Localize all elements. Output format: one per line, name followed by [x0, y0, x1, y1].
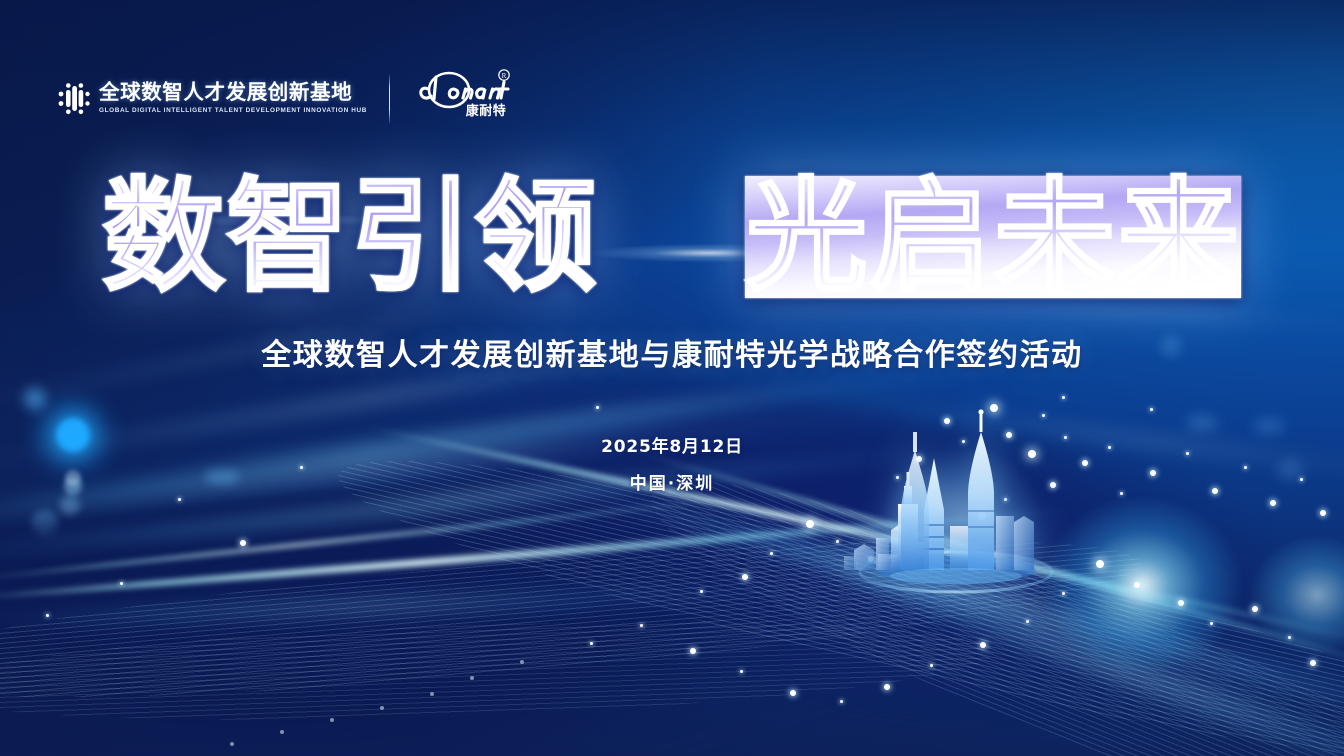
page-title: 数智引领 光启未来 — [0, 176, 1344, 298]
title-segment-2: 光启未来 — [745, 176, 1241, 298]
event-meta: 2025年8月12日 中国·深圳 — [0, 432, 1344, 494]
city-skyline-icon — [838, 398, 1076, 598]
hub-name-cn: 全球数智人才发展创新基地 — [99, 82, 367, 104]
conant-name-cn: 康耐特 — [466, 103, 507, 119]
page-subtitle: 全球数智人才发展创新基地与康耐特光学战略合作签约活动 — [0, 330, 1344, 374]
title-segment-2-text: 光启未来 — [745, 176, 1241, 298]
logo-conant[interactable]: R 康耐特 — [412, 68, 517, 130]
event-banner: 全球数智人才发展创新基地 GLOBAL DIGITAL INTELLIGENT … — [0, 0, 1344, 756]
svg-text:R: R — [502, 72, 507, 80]
hub-name-en: GLOBAL DIGITAL INTELLIGENT TALENT DEVELO… — [99, 106, 367, 116]
logo-hub[interactable]: 全球数智人才发展创新基地 GLOBAL DIGITAL INTELLIGENT … — [58, 82, 367, 116]
logo-divider — [389, 73, 390, 125]
title-segment-1: 数智引领 — [103, 176, 599, 298]
data-wave-dots-icon — [58, 82, 90, 116]
header-logos: 全球数智人才发展创新基地 GLOBAL DIGITAL INTELLIGENT … — [58, 68, 517, 130]
event-location: 中国·深圳 — [0, 469, 1344, 494]
title-segment-1-text: 数智引领 — [103, 176, 599, 298]
event-date: 2025年8月12日 — [0, 432, 1344, 457]
